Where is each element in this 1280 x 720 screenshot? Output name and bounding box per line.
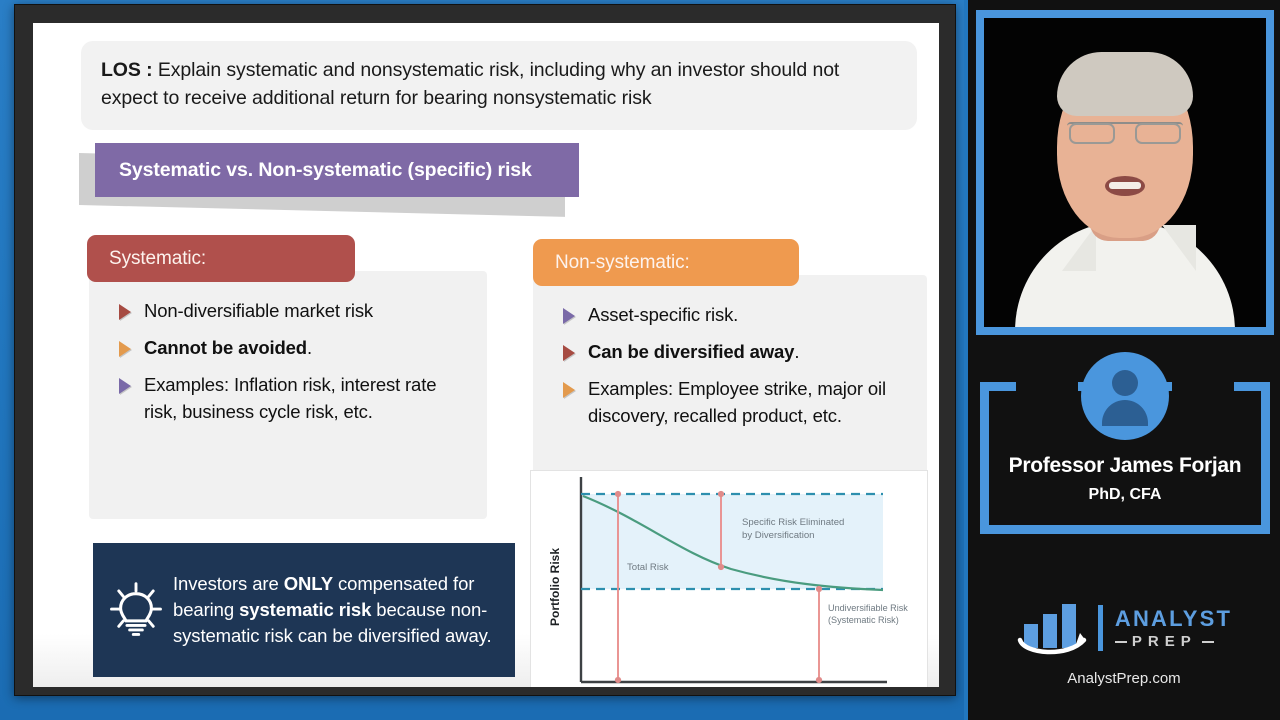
bullet-label: Cannot be avoided.	[144, 334, 312, 361]
list-item: Non-diversifiable market risk	[119, 297, 459, 324]
specific-risk-annotation-line1: Specific Risk Eliminated	[742, 517, 844, 528]
nonsystematic-bullet-list: Asset-specific risk. Can be diversified …	[563, 301, 908, 439]
bullet-label: Non-diversifiable market risk	[144, 297, 373, 324]
bullet-label: Examples: Employee strike, major oil dis…	[588, 375, 908, 429]
bullet-tail: .	[307, 337, 312, 358]
triangle-bullet-icon	[119, 378, 131, 394]
presenter-collar-left	[1062, 225, 1096, 271]
presenter-credentials: PhD, CFA	[976, 486, 1274, 504]
triangle-bullet-icon	[563, 308, 575, 324]
list-item: Cannot be avoided.	[119, 334, 459, 361]
diversification-chart: Specific Risk Eliminated by Diversificat…	[531, 471, 927, 687]
bullet-label: Asset-specific risk.	[588, 301, 738, 328]
logo-secondary-label: PREP	[1132, 633, 1197, 650]
systematic-caption: Systematic:	[87, 235, 355, 282]
logo-dash-left	[1115, 641, 1127, 643]
y-axis-title: Portfolio Risk	[548, 548, 562, 626]
logo-row: ANALYST PREP	[1016, 600, 1232, 656]
slide-viewer-frame: LOS : Explain systematic and nonsystemat…	[14, 4, 956, 696]
systematic-bullet-list: Non-diversifiable market risk Cannot be …	[119, 297, 459, 435]
presenter-name: Professor James Forjan	[976, 454, 1274, 478]
callout-strong-1: ONLY	[284, 573, 333, 594]
callout-strong-2: systematic risk	[239, 599, 371, 620]
presenter-teeth	[1109, 182, 1141, 189]
nonsystematic-caption: Non-systematic:	[533, 239, 799, 286]
bullet-strong: Cannot be avoided	[144, 337, 307, 358]
total-risk-annotation: Total Risk	[627, 562, 669, 573]
list-item: Can be diversified away.	[563, 338, 908, 365]
presenter-glasses	[1067, 122, 1183, 138]
logo-dash-right	[1202, 641, 1214, 643]
specific-risk-annotation-line2: by Diversification	[742, 530, 815, 541]
callout-part-1: Investors are	[173, 573, 284, 594]
triangle-bullet-icon	[119, 341, 131, 357]
bar-chart-logo-icon	[1016, 600, 1092, 656]
brand-logo[interactable]: ANALYST PREP AnalystPrep.com	[968, 600, 1280, 687]
los-text: Explain systematic and nonsystematic ris…	[101, 59, 839, 109]
presenter-nameplate: Professor James Forjan PhD, CFA	[976, 352, 1274, 540]
logo-primary-text: ANALYST	[1115, 606, 1232, 632]
nameplate-bracket-gap-left	[1016, 382, 1078, 394]
banner-title: Systematic vs. Non-systematic (specific)…	[95, 143, 579, 197]
key-takeaway-callout: Investors are ONLY compensated for beari…	[93, 543, 515, 677]
los-label: LOS :	[101, 59, 153, 81]
avatar-body-shape	[1102, 400, 1148, 426]
brand-domain: AnalystPrep.com	[1067, 670, 1180, 687]
app-stage: LOS : Explain systematic and nonsystemat…	[0, 0, 1280, 720]
section-banner: Systematic vs. Non-systematic (specific)…	[79, 143, 579, 205]
learning-outcome-statement: LOS : Explain systematic and nonsystemat…	[81, 41, 917, 130]
video-surface[interactable]	[984, 18, 1266, 327]
bullet-tail: .	[794, 341, 799, 362]
chart-svg: Specific Risk Eliminated by Diversificat…	[531, 471, 927, 687]
triangle-bullet-icon	[563, 345, 575, 361]
person-avatar-icon	[1081, 352, 1169, 440]
list-item: Examples: Inflation risk, interest rate …	[119, 371, 459, 425]
avatar-head-shape	[1112, 370, 1138, 396]
logo-secondary-text: PREP	[1115, 633, 1232, 650]
slide-canvas: LOS : Explain systematic and nonsystemat…	[33, 23, 939, 687]
presenter-collar-right	[1162, 225, 1196, 271]
nameplate-bracket-gap-right	[1172, 382, 1234, 394]
logo-wordmark: ANALYST PREP	[1115, 606, 1232, 650]
triangle-bullet-icon	[563, 382, 575, 398]
callout-text: Investors are ONLY compensated for beari…	[173, 571, 501, 649]
presenter-hair	[1057, 52, 1193, 116]
lightbulb-icon	[107, 579, 165, 641]
logo-divider	[1098, 605, 1103, 651]
list-item: Asset-specific risk.	[563, 301, 908, 328]
list-item: Examples: Employee strike, major oil dis…	[563, 375, 908, 429]
bullet-strong: Can be diversified away	[588, 341, 794, 362]
presenter-sidebar: Professor James Forjan PhD, CFA ANALYST	[964, 0, 1280, 720]
shaded-band	[581, 494, 883, 589]
presenter-video-player[interactable]	[976, 10, 1274, 335]
bullet-label: Examples: Inflation risk, interest rate …	[144, 371, 459, 425]
bullet-label: Can be diversified away.	[588, 338, 799, 365]
triangle-bullet-icon	[119, 304, 131, 320]
undiversifiable-annotation-line1: Undiversifiable Risk	[828, 603, 908, 613]
undiversifiable-annotation-line2: (Systematic Risk)	[828, 615, 899, 625]
